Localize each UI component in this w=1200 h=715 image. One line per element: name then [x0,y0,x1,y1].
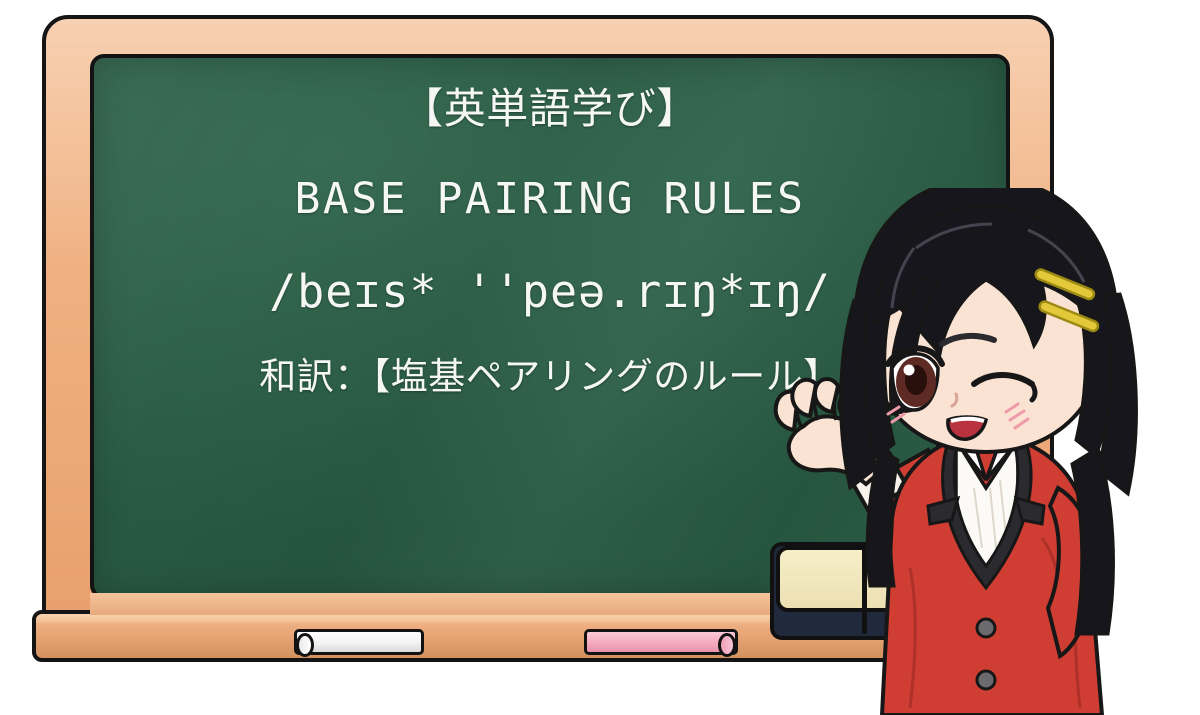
white-chalk-icon [294,629,424,655]
teeth [951,419,984,421]
anime-teacher-character-icon [742,188,1200,715]
blazer-button-bottom [977,671,995,689]
lesson-title: 【英単語学び】 [401,84,699,134]
screenshot-root: 【英単語学び】 BASE PAIRING RULES /beɪs* ''peə.… [0,0,1200,715]
blazer-button-top [977,619,995,637]
pink-chalk-icon [584,629,738,655]
english-word: BASE PAIRING RULES [295,176,806,223]
